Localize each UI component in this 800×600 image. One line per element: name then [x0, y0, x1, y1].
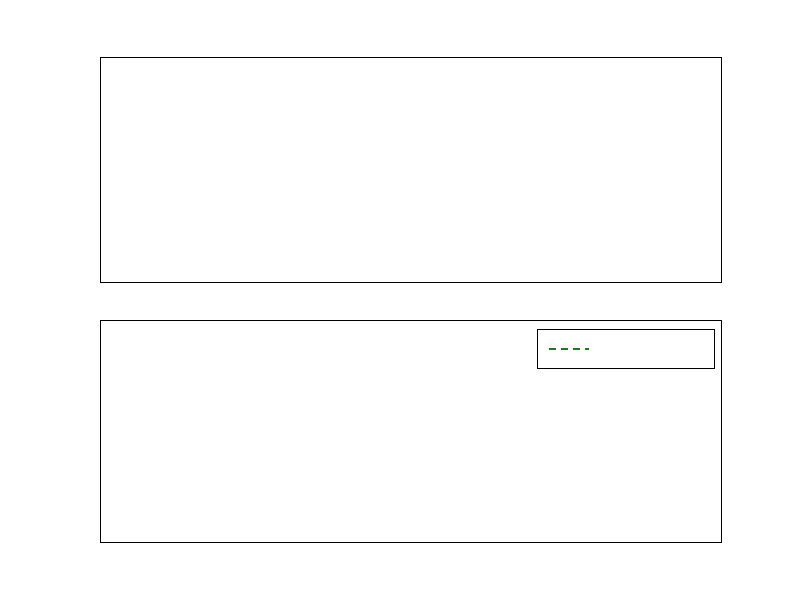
- mag-limit-line-icon: [548, 342, 590, 356]
- figure-canvas: [0, 0, 800, 600]
- legend: [537, 329, 715, 369]
- histogram-plot: [101, 58, 721, 282]
- top-panel-axes: [100, 57, 722, 283]
